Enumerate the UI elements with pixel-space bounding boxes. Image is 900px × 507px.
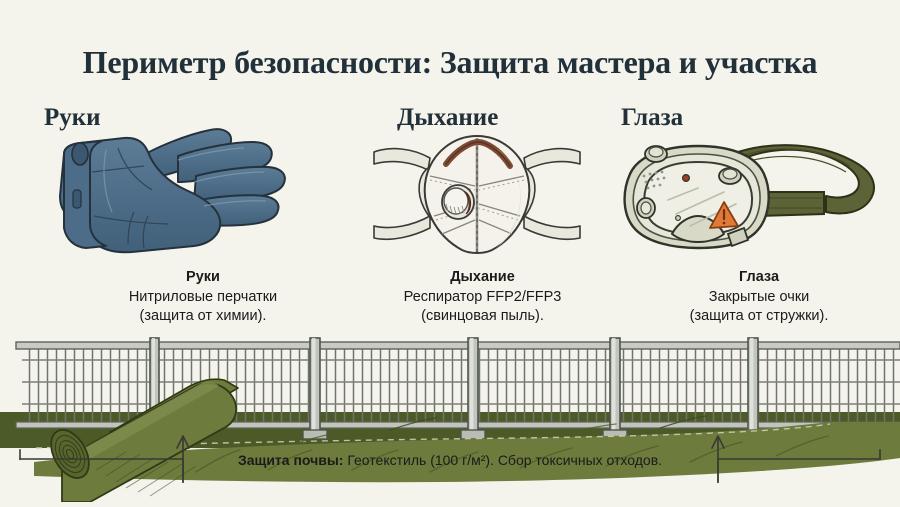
section-heading-eyes: Глаза: [621, 104, 683, 132]
soil-protection-label: Защита почвы:: [238, 452, 344, 468]
caption-eyes-title: Глаза: [628, 268, 890, 287]
page-title: Периметр безопасности: Защита мастера и …: [0, 44, 900, 81]
caption-hands: Руки Нитриловые перчатки (защита от хими…: [70, 268, 336, 326]
caption-hands-line1: Нитриловые перчатки: [129, 289, 277, 305]
fence-geotextile-scene: [0, 330, 900, 502]
caption-hands-title: Руки: [70, 268, 336, 287]
caption-respiration-line2: (свинцовая пыль).: [421, 308, 544, 324]
caption-respiration: Дыхание Респиратор FFP2/FFP3 (свинцовая …: [345, 268, 620, 326]
caption-respiration-title: Дыхание: [345, 268, 620, 287]
caption-eyes: Глаза Закрытые очки (защита от стружки).: [628, 268, 890, 326]
infographic-root: Периметр безопасности: Защита мастера и …: [0, 0, 900, 502]
caption-respiration-line1: Респиратор FFP2/FFP3: [404, 289, 562, 305]
respirator-mask-icon: [372, 124, 582, 269]
caption-hands-line2: (защита от химии).: [140, 308, 267, 324]
soil-protection-text: Геотекстиль (100 г/м²). Сбор токсичных о…: [343, 452, 662, 468]
soil-protection-note: Защита почвы: Геотекстиль (100 г/м²). Сб…: [0, 452, 900, 468]
caption-eyes-line2: (защита от стружки).: [690, 308, 829, 324]
safety-goggles-icon: [612, 130, 887, 270]
nitrile-glove-icon: [28, 124, 328, 269]
caption-eyes-line1: Закрытые очки: [709, 289, 810, 305]
